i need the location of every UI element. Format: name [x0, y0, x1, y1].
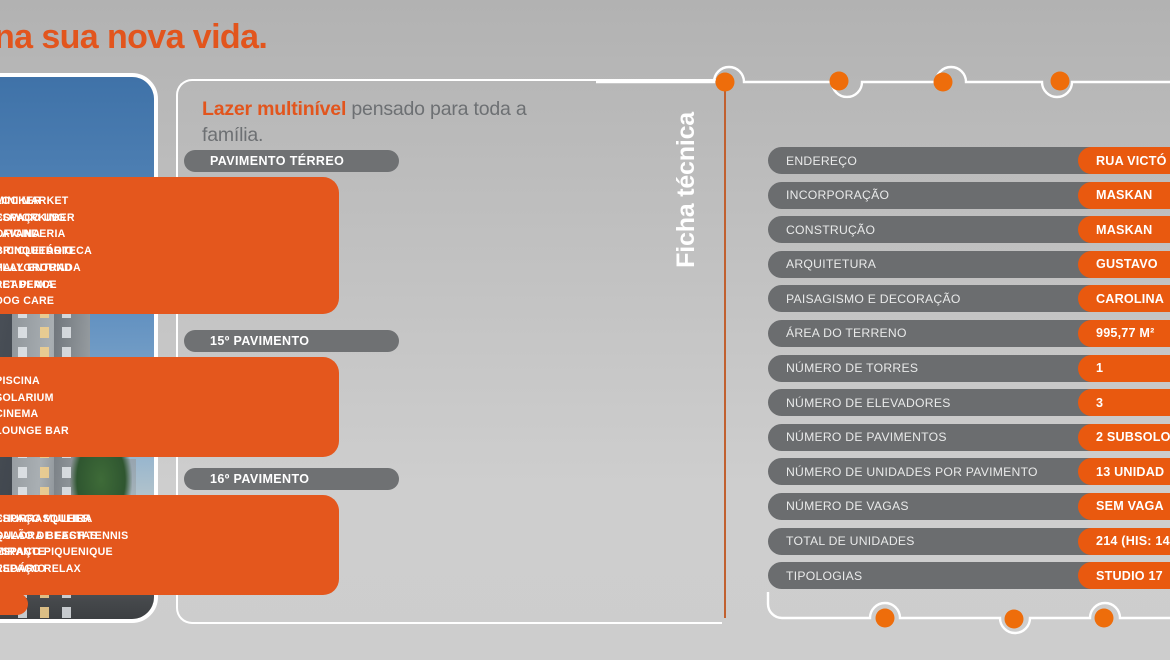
ficha-row: NÚMERO DE VAGASSEM VAGA: [768, 493, 1170, 520]
ficha-row-value: MASKAN: [1078, 216, 1170, 243]
ficha-row-value: 13 UNIDAD: [1078, 458, 1170, 485]
timeline-dot-4: [1051, 72, 1070, 91]
amenity-item: ACADEMIA: [0, 277, 154, 294]
floor-tag-label: 16º PAVIMENTO: [210, 472, 309, 486]
ficha-row-value: 1: [1078, 355, 1170, 382]
ficha-row: NÚMERO DE PAVIMENTOS2 SUBSOLO: [768, 424, 1170, 451]
amenities-subtitle: Lazer multinível pensado para toda a fam…: [202, 96, 542, 148]
floor-tag-label: 15º PAVIMENTO: [210, 334, 309, 348]
floor-tag-2: 15º PAVIMENTO: [184, 330, 399, 352]
ficha-row-value: 3: [1078, 389, 1170, 416]
amenities-panel-1: LOCKERESPAÇO UBEROFICINABICICLETÁRIOHALL…: [0, 177, 339, 314]
ficha-row: ENDEREÇORUA VICTÓ: [768, 147, 1170, 174]
ficha-tecnica-table: ENDEREÇORUA VICTÓINCORPORAÇÃOMASKANCONST…: [768, 147, 1170, 597]
amenity-item: ESPAÇO PIQUENIQUE: [0, 544, 154, 561]
photo-window: [40, 327, 49, 338]
ficha-row: TOTAL DE UNIDADES214 (HIS: 14: [768, 528, 1170, 555]
floor-tag-1: PAVIMENTO TÉRREO: [184, 150, 399, 172]
ficha-row: NÚMERO DE UNIDADES POR PAVIMENTO13 UNIDA…: [768, 458, 1170, 485]
amenities-panel-2: PISCINASOLARIUMCINEMALOUNGE BAR: [0, 357, 339, 457]
timeline-dot-7: [1095, 609, 1114, 628]
timeline-dot-2: [830, 72, 849, 91]
amenities-column-2: [0, 373, 154, 440]
ficha-row-value: SEM VAGA: [1078, 493, 1170, 520]
ficha-row: ARQUITETURAGUSTAVO: [768, 251, 1170, 278]
amenity-item: MINI MARKET: [0, 193, 154, 210]
ficha-row-value: 995,77 M²: [1078, 320, 1170, 347]
ficha-tecnica-title: Ficha técnica: [672, 112, 701, 268]
ficha-row-value: MASKAN: [1078, 182, 1170, 209]
ficha-row: NÚMERO DE ELEVADORES3: [768, 389, 1170, 416]
photo-window: [18, 467, 27, 478]
ficha-row-value: STUDIO 17: [1078, 562, 1170, 589]
amenity-item: LAVANDERIA: [0, 226, 154, 243]
photo-window: [62, 327, 71, 338]
ficha-row: CONSTRUÇÃOMASKAN: [768, 216, 1170, 243]
ficha-vertical-line: [724, 88, 726, 618]
ficha-row: TIPOLOGIASSTUDIO 17: [768, 562, 1170, 589]
ficha-row-value: GUSTAVO: [1078, 251, 1170, 278]
timeline-dot-6: [1005, 610, 1024, 629]
amenities-subtitle-accent: Lazer multinível: [202, 98, 346, 120]
ficha-row-value: 214 (HIS: 14: [1078, 528, 1170, 555]
amenities-panel-3: ESPAÇO MULHERSALÃO DE FESTASMIRANTEESPAÇ…: [0, 495, 339, 595]
timeline-rail-bottom: [752, 592, 1170, 638]
amenity-item: BRINQUEDOTECA: [0, 243, 154, 260]
amenity-item: REDÁRIO: [0, 561, 154, 578]
amenity-item: COWORKING: [0, 210, 154, 227]
ficha-row: NÚMERO DE TORRES1: [768, 355, 1170, 382]
ficha-row-value: RUA VICTÓ: [1078, 147, 1170, 174]
ficha-row: INCORPORAÇÃOMASKAN: [768, 182, 1170, 209]
photo-window: [18, 327, 27, 338]
timeline-dot-3: [934, 73, 953, 92]
floor-tag-3: 16º PAVIMENTO: [184, 468, 399, 490]
photo-window: [62, 467, 71, 478]
photo-window: [62, 607, 71, 618]
ficha-row: PAISAGISMO E DECORAÇÃOCAROLINA: [768, 285, 1170, 312]
page-headline: na sua nova vida.: [0, 18, 267, 57]
amenity-item: CHURRASQUEIRA: [0, 511, 154, 528]
floor-tag-label: PAVIMENTO TÉRREO: [210, 154, 344, 168]
ficha-row: ÁREA DO TERRENO995,77 M²: [768, 320, 1170, 347]
amenities-column-2: MINI MARKETCOWORKINGLAVANDERIABRINQUEDOT…: [0, 193, 154, 310]
amenities-column-2: CHURRASQUEIRAQUADRA BEACH TENNISESPAÇO P…: [0, 511, 154, 578]
poster-canvas: na sua nova vida. Lazer multinível pensa…: [0, 0, 1170, 660]
amenity-item: PLAYGROUND: [0, 260, 154, 277]
photo-window: [40, 607, 49, 618]
photo-window: [40, 467, 49, 478]
timeline-dot-5: [876, 609, 895, 628]
ficha-row-value: CAROLINA: [1078, 285, 1170, 312]
ficha-row-value: 2 SUBSOLO: [1078, 424, 1170, 451]
amenity-item: QUADRA BEACH TENNIS: [0, 528, 154, 545]
left-orange-nub: [0, 593, 28, 615]
